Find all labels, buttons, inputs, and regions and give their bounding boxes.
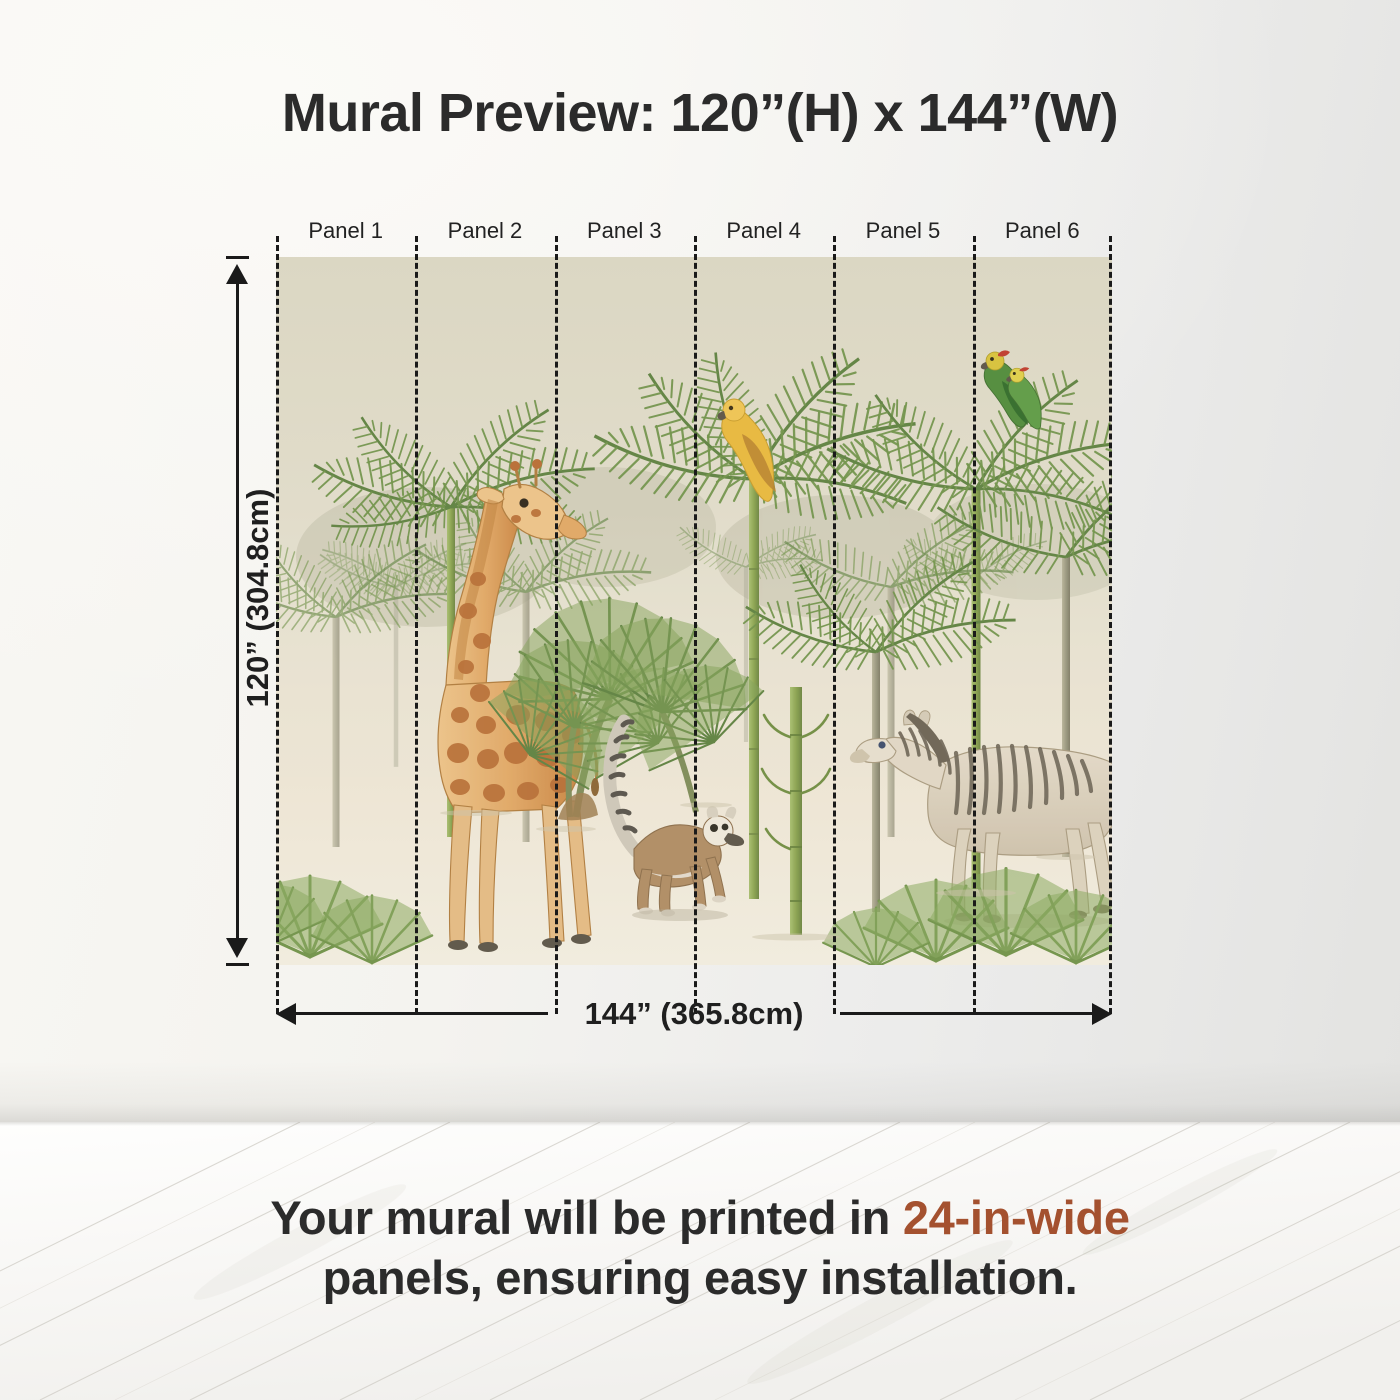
height-arrow-up-icon xyxy=(226,264,248,284)
caption-accent-text: 24-in-wide xyxy=(903,1191,1130,1244)
panel-label-3: Panel 3 xyxy=(555,214,694,248)
panel-label-1: Panel 1 xyxy=(276,214,415,248)
page-title: Mural Preview: 120”(H) x 144”(W) xyxy=(0,82,1400,144)
height-tick-top xyxy=(226,256,249,259)
panel-label-2: Panel 2 xyxy=(415,214,554,248)
width-dimension: 144” (365.8cm) xyxy=(276,993,1112,1035)
panel-label-6: Panel 6 xyxy=(973,214,1112,248)
height-arrow-down-icon xyxy=(226,938,248,958)
mural-artwork xyxy=(276,257,1112,965)
wall-floor-shadow xyxy=(0,1062,1400,1122)
floor-baseboard-line xyxy=(0,1122,1400,1126)
mural-preview-screen: Mural Preview: 120”(H) x 144”(W) Panel 1… xyxy=(0,0,1400,1400)
mural-scene-svg xyxy=(276,257,1112,965)
footer-caption: Your mural will be printed in 24-in-wide… xyxy=(0,1188,1400,1308)
caption-line-1: Your mural will be printed in 24-in-wide xyxy=(0,1188,1400,1248)
caption-text-before: Your mural will be printed in xyxy=(270,1191,903,1244)
height-dimension-line xyxy=(236,268,239,954)
panel-label-4: Panel 4 xyxy=(694,214,833,248)
height-tick-bottom xyxy=(226,963,249,966)
width-dimension-label: 144” (365.8cm) xyxy=(276,993,1112,1035)
height-dimension: 120” (304.8cm) xyxy=(206,250,276,972)
height-dimension-label: 120” (304.8cm) xyxy=(240,318,276,878)
panel-labels-row: Panel 1 Panel 2 Panel 3 Panel 4 Panel 5 … xyxy=(276,214,1112,248)
caption-line-2: panels, ensuring easy installation. xyxy=(0,1248,1400,1308)
panel-label-5: Panel 5 xyxy=(833,214,972,248)
